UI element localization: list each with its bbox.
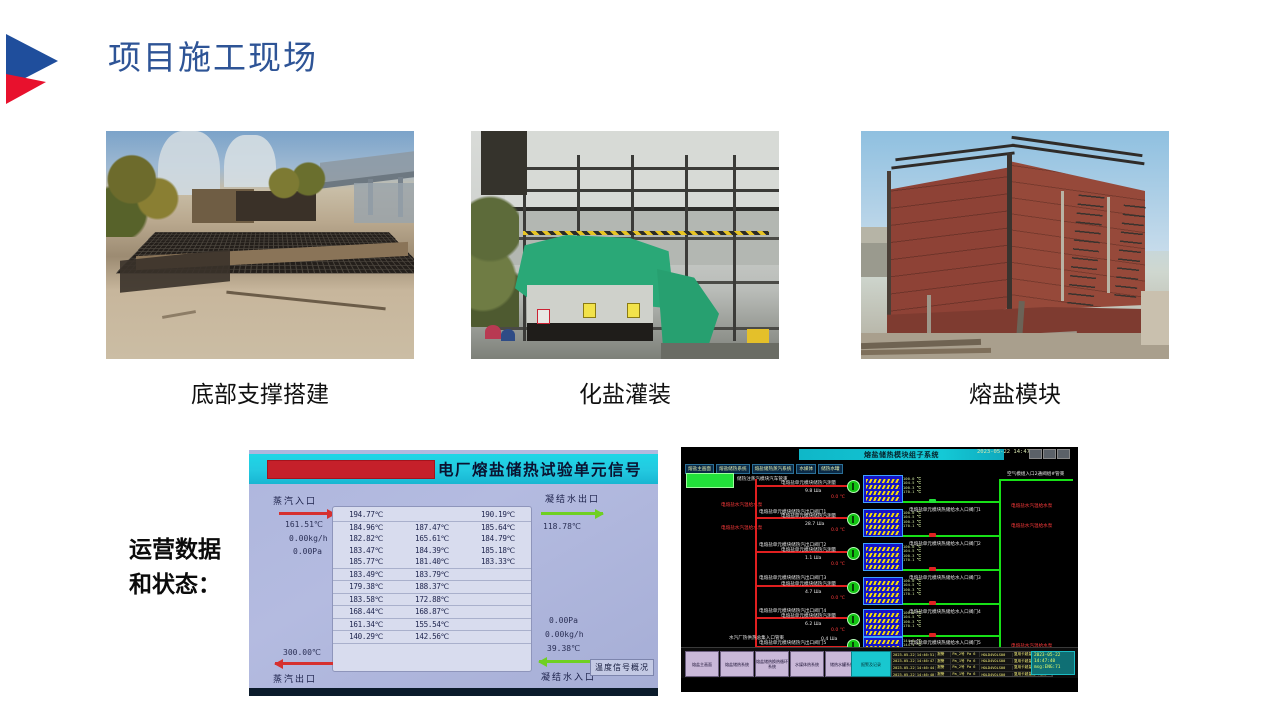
photo-foundation — [106, 131, 414, 359]
scada-bottom-bar: 熔盐主画面 熔盐储热系统 熔盐储热换热循环系统 水媒体热系统 储热水罐系统 报警… — [681, 647, 1078, 678]
module-return-4 — [903, 603, 999, 605]
module-temp-3: 0.0 ℃ — [831, 562, 845, 567]
photo-caption-2: 化盐灌装 — [471, 375, 779, 409]
module-value-1: 9.8 Ша — [805, 489, 822, 494]
ops-data-label: 运营数据 和状态： — [100, 532, 250, 602]
temperature-table: 194.77℃ 190.19℃ 184.96℃ 187.47℃ 185.64℃ … — [332, 506, 532, 672]
steam-outlet-arrow — [275, 662, 333, 665]
alarm-cell-code: HOLD4VOLS00 — [980, 673, 1013, 677]
valve-icon-3[interactable] — [929, 565, 936, 572]
module-label-3: 电熔盐单元模块储热汽测量 — [781, 547, 836, 553]
right-note-2: 电熔盐水汽温给水泵 — [1011, 523, 1052, 529]
table-cell: 194.77℃ — [333, 510, 399, 519]
module-value-5: 6.2 Ша — [805, 622, 822, 627]
tab-steam[interactable]: 熔盐储热蒸汽系统 — [752, 464, 795, 474]
tab-tank[interactable]: 储热水罐 — [818, 464, 842, 474]
table-row: 161.34℃ 155.54℃ — [333, 619, 531, 632]
photo-caption-1: 底部支撑搭建 — [106, 375, 414, 409]
table-cell: 183.79℃ — [399, 570, 465, 579]
alarm-row: 2023-05-22 14:46:51 报警 Pa_2号 Pa 6 HOLD4V… — [892, 652, 1052, 659]
hmi-screenshot: 电厂熔盐储热试验单元信号 蒸汽入口 161.51℃ 0.00kg/h 0.00P… — [249, 450, 658, 696]
alarm-cell-code: HOLD4VOLS00 — [980, 666, 1013, 670]
scada-title: 熔盐储热模块组子系统 — [799, 449, 1004, 460]
table-row: 183.47℃ 184.39℃ 185.18℃ — [333, 545, 531, 557]
right-note-top: 空气模组入口2通阀组#管束 — [1007, 471, 1064, 477]
temperature-overview-button[interactable]: 温度信号概况 — [590, 659, 654, 676]
module-value-4: 4.7 Ша — [805, 590, 822, 595]
module-return-3 — [903, 569, 999, 571]
alarm-cell-tag: Pa_1号 Pa 6 — [951, 672, 980, 677]
module-temp-4: 0.0 ℃ — [831, 596, 845, 601]
table-row: 168.44℃ 168.87℃ — [333, 606, 531, 619]
valve-icon-5[interactable] — [929, 631, 936, 638]
table-cell: 183.49℃ — [333, 570, 399, 579]
steam-inlet-temp: 161.51℃ — [285, 520, 323, 529]
status-code: msg:ENG:71 — [1034, 665, 1072, 671]
table-cell: 183.58℃ — [333, 595, 399, 604]
table-cell: 187.47℃ — [399, 523, 465, 532]
salt-module-5[interactable] — [863, 609, 903, 637]
table-cell: 184.39℃ — [399, 546, 465, 555]
alarm-cell-date: 2023-05-22 — [892, 666, 916, 670]
bottom-button-main[interactable]: 熔盐主画面 — [685, 651, 719, 677]
table-cell: 185.64℃ — [465, 523, 531, 532]
supply-pipe-vertical — [755, 479, 757, 647]
module-readout-2: 100.0 ℃104.5 ℃100.3 ℃170.1 ℃ — [903, 511, 921, 529]
return-pipe-vertical — [999, 479, 1001, 649]
window-close-button[interactable] — [1057, 449, 1070, 459]
return-pipe-top — [999, 479, 1073, 481]
valve-icon-2[interactable] — [929, 531, 936, 538]
condensate-inlet-label: 凝结水入口 — [541, 670, 596, 683]
window-minimize-button[interactable] — [1029, 449, 1042, 459]
alarm-cell-date: 2023-05-22 — [892, 673, 916, 677]
module-temp-2: 0.0 ℃ — [831, 528, 845, 533]
table-cell: 183.33℃ — [465, 557, 531, 566]
bottom-button-exchange[interactable]: 熔盐储热换热循环系统 — [755, 651, 789, 677]
photo-caption-3: 熔盐模块 — [861, 375, 1169, 409]
module-return-1 — [903, 501, 999, 503]
module-label-2: 电熔盐单元模块储热汽测量 — [781, 513, 836, 519]
table-row: 140.29℃ 142.56℃ — [333, 631, 531, 644]
steam-outlet-label: 蒸汽出口 — [273, 672, 317, 685]
status-readout: 2023-05-22 14:47:40 msg:ENG:71 — [1031, 651, 1075, 675]
right-note-1: 电熔盐水汽温给水泵 — [1011, 503, 1052, 509]
photo-salt-module — [861, 131, 1169, 359]
table-cell: 184.96℃ — [333, 523, 399, 532]
table-row: 182.82℃ 165.61℃ 184.79℃ — [333, 533, 531, 545]
module-label-4: 电熔盐单元模块储热汽测量 — [781, 581, 836, 587]
status-indicator-green — [686, 473, 734, 488]
module-label-5: 电熔盐单元模块储热汽测量 — [781, 613, 836, 619]
pump-icon-5[interactable] — [847, 613, 860, 626]
steam-inlet-flow: 0.00kg/h — [289, 534, 328, 543]
module-value-2: 28.7 Ша — [805, 522, 824, 527]
slide-root: 项目施工现场 底部支撑搭建 — [0, 0, 1280, 720]
table-cell: 168.44℃ — [333, 607, 399, 616]
steam-inlet-pressure: 0.00Pa — [293, 547, 322, 556]
company-logo-arrow — [2, 28, 64, 104]
alarm-log-table[interactable]: 2023-05-22 14:46:51 报警 Pa_2号 Pa 6 HOLD4V… — [891, 651, 1053, 677]
module-readout-1: 100.0 ℃104.5 ℃100.3 ℃170.1 ℃ — [903, 477, 921, 495]
table-cell: 185.18℃ — [465, 546, 531, 555]
condensate-outlet-arrow — [541, 512, 603, 515]
table-row: 194.77℃ 190.19℃ — [333, 509, 531, 522]
alarm-tab-button[interactable]: 报警及记录 — [851, 651, 891, 677]
table-cell: 155.54℃ — [399, 620, 465, 629]
alarm-cell-tag: Pa_2号 Pa 6 — [951, 665, 980, 670]
table-cell: 142.56℃ — [399, 632, 465, 641]
alarm-cell-type: 报警 — [936, 672, 951, 677]
alarm-cell-date: 2023-05-22 — [892, 653, 916, 657]
table-cell: 161.34℃ — [333, 620, 399, 629]
module-readout-3: 100.0 ℃104.5 ℃100.3 ℃170.1 ℃ — [903, 545, 921, 563]
alarm-row: 2023-05-22 14:46:40 报警 Pa_1号 Pa 6 HOLD4V… — [892, 672, 1052, 677]
table-cell: 183.47℃ — [333, 546, 399, 555]
scada-screenshot: 熔盐储热模块组子系统 2023-05-22 14:47:40 熔盐主画面 熔盐储… — [681, 447, 1078, 692]
window-maximize-button[interactable] — [1043, 449, 1056, 459]
table-row: 184.96℃ 187.47℃ 185.64℃ — [333, 522, 531, 534]
table-cell: 165.61℃ — [399, 534, 465, 543]
module-return-5 — [903, 635, 999, 637]
alarm-cell-type: 报警 — [936, 659, 951, 664]
module-return-2 — [903, 535, 999, 537]
table-cell: 185.77℃ — [333, 557, 399, 566]
hmi-title-bar: 电厂熔盐储热试验单元信号 — [249, 454, 658, 484]
table-row: 185.77℃ 181.40℃ 183.33℃ — [333, 556, 531, 569]
bottom-button-water[interactable]: 水媒体热系统 — [790, 651, 824, 677]
table-cell: 179.38℃ — [333, 582, 399, 591]
condensate-inlet-flow: 0.00kg/h — [545, 630, 584, 639]
condensate-outlet-temp: 118.78℃ — [543, 522, 581, 531]
pump-icon-4[interactable] — [847, 581, 860, 594]
module-temp-5: 0.0 ℃ — [831, 628, 845, 633]
table-cell: 140.29℃ — [333, 632, 399, 641]
table-row: 183.58℃ 172.88℃ — [333, 594, 531, 607]
ops-label-line2: 和状态： — [100, 567, 250, 602]
bottom-left-label: 水汽厂热供热总集入口管束 — [729, 635, 784, 641]
alarm-cell-code: HOLD4VOLS00 — [980, 653, 1013, 657]
table-row: 183.49℃ 183.79℃ — [333, 569, 531, 582]
alarm-cell-type: 报警 — [936, 665, 951, 670]
alarm-cell-code: HOLD4VOLS00 — [980, 659, 1013, 663]
alarm-cell-time: 14:46:47 — [916, 659, 936, 663]
alarm-cell-time: 14:46:44 — [916, 666, 936, 670]
pump-icon-2[interactable] — [847, 513, 860, 526]
hmi-title: 电厂熔盐储热试验单元信号 — [438, 458, 642, 480]
table-cell: 181.40℃ — [399, 557, 465, 566]
condensate-inlet-pressure: 0.00Pa — [549, 616, 578, 625]
alarm-cell-time: 14:46:40 — [916, 673, 936, 677]
module-readout-5: 100.0 ℃104.5 ℃100.3 ℃170.1 ℃ — [903, 611, 921, 629]
hmi-body: 电厂熔盐储热试验单元信号 蒸汽入口 161.51℃ 0.00kg/h 0.00P… — [249, 450, 658, 688]
table-cell: 188.37℃ — [399, 582, 465, 591]
steam-outlet-temp: 300.00℃ — [283, 648, 321, 657]
alarm-cell-type: 报警 — [936, 652, 951, 657]
alarm-cell-date: 2023-05-22 — [892, 659, 916, 663]
alarm-cell-tag: Pa_2号 Pa 6 — [951, 652, 980, 657]
alarm-cell-time: 14:46:51 — [916, 653, 936, 657]
redaction-bar — [267, 460, 435, 479]
module-value-6: 0.4 Ша — [821, 637, 838, 642]
steam-inlet-arrow — [279, 512, 335, 515]
bottom-button-storage[interactable]: 熔盐储热系统 — [720, 651, 754, 677]
ops-label-line1: 运营数据 — [100, 532, 250, 567]
alarm-row: 2023-05-22 14:46:47 报警 Pa_1号 Pa 6 HOLD4V… — [892, 659, 1052, 666]
table-cell: 190.19℃ — [465, 510, 531, 519]
table-cell: 182.82℃ — [333, 534, 399, 543]
salt-module-1[interactable] — [863, 475, 903, 503]
left-header-label: 储热注蒸汽模块汽车管束 — [737, 476, 788, 482]
alarm-cell-tag: Pa_1号 Pa 6 — [951, 659, 980, 664]
table-row: 179.38℃ 188.37℃ — [333, 581, 531, 594]
salt-module-3[interactable] — [863, 543, 903, 571]
alarm-row: 2023-05-22 14:46:44 报警 Pa_2号 Pa 6 HOLD4V… — [892, 665, 1052, 672]
module-value-3: 1.1 Ша — [805, 556, 822, 561]
condensate-inlet-temp: 39.38℃ — [547, 644, 580, 653]
table-cell: 168.87℃ — [399, 607, 465, 616]
tab-water[interactable]: 水媒体 — [796, 464, 816, 474]
table-row — [333, 644, 531, 656]
valve-icon-4[interactable] — [929, 599, 936, 606]
module-temp-1: 0.0 ℃ — [831, 495, 845, 500]
table-cell: 184.79℃ — [465, 534, 531, 543]
salt-module-4[interactable] — [863, 577, 903, 605]
condensate-outlet-label: 凝结水出口 — [545, 492, 600, 505]
module-readout-4: 100.0 ℃104.5 ℃100.3 ℃170.1 ℃ — [903, 579, 921, 597]
valve-icon-1[interactable] — [929, 497, 936, 504]
table-cell: 172.88℃ — [399, 595, 465, 604]
page-title: 项目施工现场 — [108, 38, 318, 78]
steam-inlet-label: 蒸汽入口 — [273, 494, 317, 507]
pump-icon-3[interactable] — [847, 547, 860, 560]
photo-salt-filling — [471, 131, 779, 359]
pump-icon-1[interactable] — [847, 480, 860, 493]
module-label-1: 电熔盐单元模块储热汽测量 — [781, 480, 836, 486]
salt-module-2[interactable] — [863, 509, 903, 537]
